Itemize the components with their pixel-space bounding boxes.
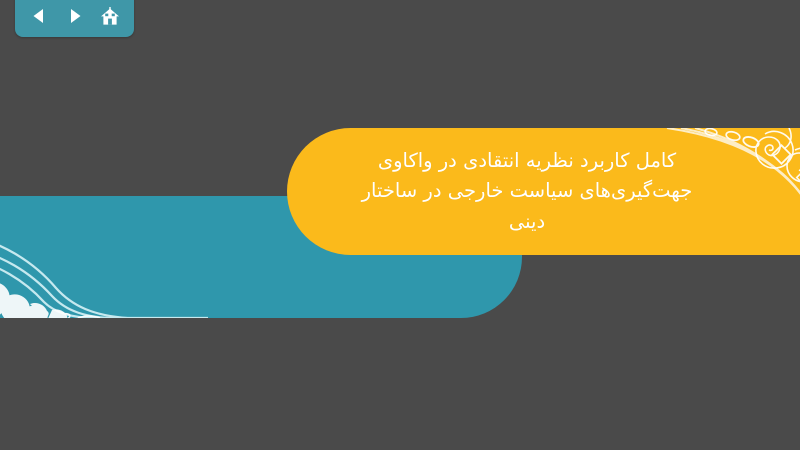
slide-title-line-2: جهت‌گیری‌های سیاست خارجی در ساختار <box>317 176 737 206</box>
home-button[interactable] <box>97 3 123 29</box>
slide-stage: کامل کاربرد نظریه انتقادی در واکاوی جهت‌… <box>0 0 800 450</box>
previous-slide-button[interactable] <box>26 3 52 29</box>
teal-arabesque-ornament <box>0 196 208 318</box>
viewer-nav-bar <box>15 0 134 37</box>
home-icon <box>100 7 120 26</box>
next-slide-button[interactable] <box>62 3 88 29</box>
slide-title-line-3: دینی <box>317 207 737 237</box>
slide-title-line-1: کامل کاربرد نظریه انتقادی در واکاوی <box>317 146 737 176</box>
title-block: کامل کاربرد نظریه انتقادی در واکاوی جهت‌… <box>287 128 800 255</box>
slide-title: کامل کاربرد نظریه انتقادی در واکاوی جهت‌… <box>317 146 737 237</box>
back-triangle-icon <box>30 7 48 25</box>
forward-triangle-icon <box>66 7 84 25</box>
